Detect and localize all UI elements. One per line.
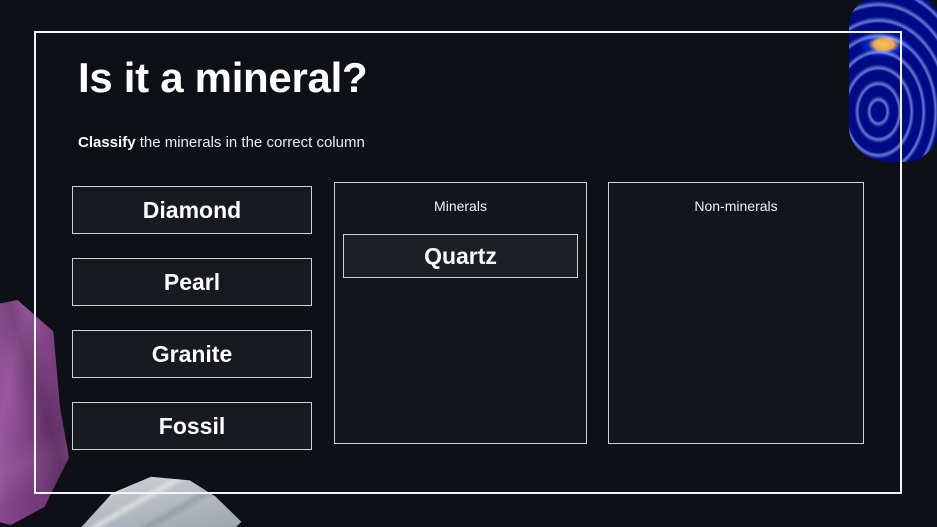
- instruction-bold-word: Classify: [78, 134, 136, 151]
- drop-zone-non-minerals-items: [617, 234, 855, 435]
- dropped-card-quartz[interactable]: Quartz: [343, 234, 578, 278]
- draggable-card-diamond[interactable]: Diamond: [72, 186, 312, 234]
- instruction-text: Classify the minerals in the correct col…: [78, 134, 365, 151]
- draggable-card-pearl[interactable]: Pearl: [72, 258, 312, 306]
- drop-zone-non-minerals[interactable]: Non-minerals: [608, 182, 864, 444]
- draggable-card-granite[interactable]: Granite: [72, 330, 312, 378]
- drop-zone-minerals[interactable]: Minerals Quartz: [334, 182, 587, 444]
- draggable-card-fossil[interactable]: Fossil: [72, 402, 312, 450]
- drop-zone-minerals-label: Minerals: [335, 198, 586, 214]
- slide-canvas: Is it a mineral? Classify the minerals i…: [0, 0, 937, 527]
- instruction-rest: the minerals in the correct column: [136, 134, 365, 151]
- drop-zone-non-minerals-label: Non-minerals: [609, 198, 863, 214]
- drop-zone-minerals-items: Quartz: [343, 234, 578, 435]
- page-title: Is it a mineral?: [78, 54, 367, 102]
